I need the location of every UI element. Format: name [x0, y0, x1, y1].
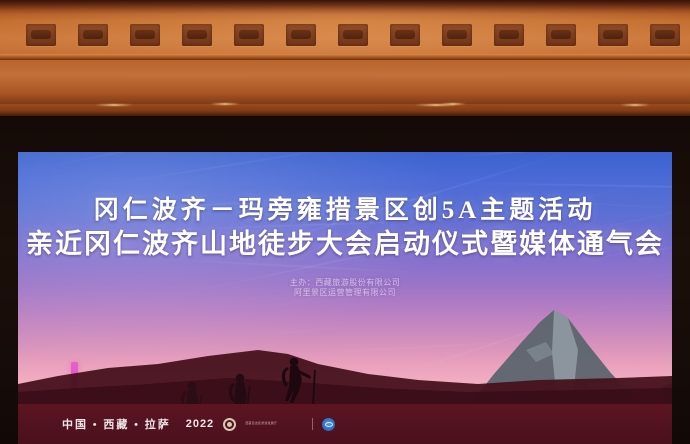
cornice-light-speck	[440, 103, 466, 105]
logo-dot	[227, 422, 232, 427]
logo-caption: 西藏自治区旅游发展厅	[245, 422, 303, 426]
hiker-3	[282, 358, 316, 404]
wall-relief-panel	[26, 24, 56, 46]
wall-relief-panels	[0, 24, 690, 50]
wall-relief-panel	[494, 24, 524, 46]
wall-relief-panel	[130, 24, 160, 46]
sky-streak	[18, 152, 219, 175]
conference-hall-photo: 冈仁波齐－玛旁雍措景区创5A主题活动 亲近冈仁波齐山地徒步大会启动仪式暨媒体通气…	[0, 0, 690, 444]
wall-relief-panel	[650, 24, 680, 46]
wall-relief-panel	[286, 24, 316, 46]
cornice-middle	[0, 60, 690, 104]
wall-relief-panel	[182, 24, 212, 46]
footer-band: 中国 • 西藏 • 拉萨 2022 西藏自治区旅游发展厅	[18, 404, 672, 444]
cornice-light-speck	[95, 104, 133, 106]
sky-streak	[69, 152, 394, 191]
headline-line-1: 冈仁波齐－玛旁雍措景区创5A主题活动	[18, 196, 672, 226]
footer-content: 中国 • 西藏 • 拉萨 2022 西藏自治区旅游发展厅	[62, 416, 335, 432]
wall-relief-panel	[598, 24, 628, 46]
footer-divider	[312, 418, 313, 430]
logo-eye-shape	[325, 422, 333, 427]
sky-streak	[430, 182, 672, 191]
wall-relief-panel	[546, 24, 576, 46]
cornice-light-speck	[620, 104, 650, 106]
wall-relief-panel	[78, 24, 108, 46]
wall-relief-panel	[234, 24, 264, 46]
organizer-line-1: 主办：西藏旅游股份有限公司	[18, 278, 672, 288]
led-screen: 冈仁波齐－玛旁雍措景区创5A主题活动 亲近冈仁波齐山地徒步大会启动仪式暨媒体通气…	[18, 152, 672, 444]
wall-relief-panel	[390, 24, 420, 46]
footer-place: 中国 • 西藏 • 拉萨	[62, 416, 171, 432]
ceiling-shadow	[0, 0, 690, 14]
blue-circle-partner-logo	[322, 418, 335, 431]
event-headline: 冈仁波齐－玛旁雍措景区创5A主题活动 亲近冈仁波齐山地徒步大会启动仪式暨媒体通气…	[18, 196, 672, 261]
cornice-light-speck	[210, 103, 240, 105]
wall-relief-panel	[338, 24, 368, 46]
wall-relief-panel	[442, 24, 472, 46]
hall-wall	[0, 0, 690, 128]
footer-year: 2022	[186, 418, 214, 430]
tibet-tourism-org-logo	[223, 418, 236, 431]
sky-streak	[440, 152, 598, 158]
headline-line-2: 亲近冈仁波齐山地徒步大会启动仪式暨媒体通气会	[18, 228, 672, 261]
